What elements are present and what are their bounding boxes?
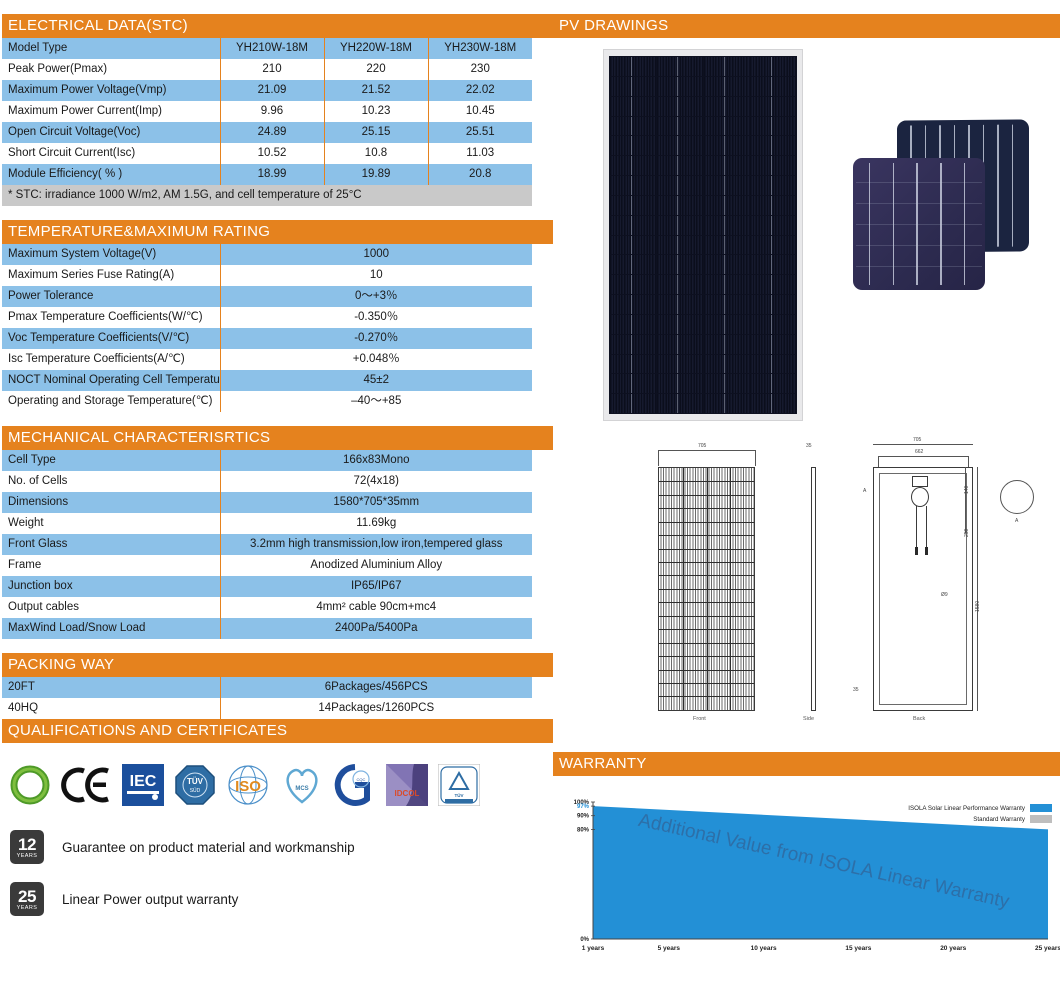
row-label: Module Efficiency( % ) xyxy=(2,164,220,185)
legend-swatch xyxy=(1030,804,1052,812)
row-label: Peak Power(Pmax) xyxy=(2,59,220,80)
row-label: Front Glass xyxy=(2,534,220,555)
row-value: 1000 xyxy=(220,244,532,265)
row-value: 9.96 xyxy=(220,101,324,122)
row-label: 40HQ xyxy=(2,698,220,719)
front-view-drawing xyxy=(658,467,755,711)
table-footnote: * STC: irradiance 1000 W/m2, AM 1.5G, an… xyxy=(2,185,532,206)
green-ring-icon xyxy=(10,763,50,807)
table-row: Maximum Series Fuse Rating(A) 10 xyxy=(2,265,532,286)
row-value: 210 xyxy=(220,59,324,80)
table-row: 20FT 6Packages/456PCS xyxy=(2,677,532,698)
warranty-badge-row-12: 12 YEARS Guarantee on product material a… xyxy=(2,821,553,873)
table-row: Isc Temperature Coefficients(A/℃) +0.048… xyxy=(2,349,532,370)
iso-icon: ISO xyxy=(226,763,270,807)
qualifications-header: QUALIFICATIONS AND CERTIFICATES xyxy=(2,719,553,743)
junction-box-drawing xyxy=(912,476,928,487)
svg-text:IDCOL: IDCOL xyxy=(395,789,420,798)
badge-number: 12 xyxy=(18,836,36,853)
table-row: Front Glass 3.2mm high transmission,low … xyxy=(2,534,532,555)
row-value: –40～+85 xyxy=(220,391,532,412)
table-row: Maximum Power Current(Imp) 9.96 10.23 10… xyxy=(2,101,532,122)
pv-photo-area xyxy=(553,38,1060,438)
row-value: 20.8 xyxy=(428,164,532,185)
row-label: Maximum System Voltage(V) xyxy=(2,244,220,265)
row-label: Voc Temperature Coefficients(V/℃) xyxy=(2,328,220,349)
table-row: Module Efficiency( % ) 18.99 19.89 20.8 xyxy=(2,164,532,185)
warranty-text: Linear Power output warranty xyxy=(62,892,238,907)
datasheet-page: ELECTRICAL DATA(STC) Model Type YH210W-1… xyxy=(0,0,1060,999)
technical-drawing: 705 Front 35 Side 705 xyxy=(553,442,1060,752)
warranty-badge-row-25: 25 YEARS Linear Power output warranty xyxy=(2,873,553,925)
table-row: Frame Anodized Aluminium Alloy xyxy=(2,555,532,576)
dim-side-thickness: 35 xyxy=(806,443,812,449)
spacer xyxy=(2,412,553,426)
legend-label: ISOLA Solar Linear Performance Warranty xyxy=(908,805,1025,812)
row-label: Maximum Series Fuse Rating(A) xyxy=(2,265,220,286)
table-row: Power Tolerance 0～+3％ xyxy=(2,286,532,307)
row-label: No. of Cells xyxy=(2,471,220,492)
table-row: Voc Temperature Coefficients(V/℃) -0.270… xyxy=(2,328,532,349)
row-label: Short Circuit Current(Isc) xyxy=(2,143,220,164)
temperature-rating-header: TEMPERATURE&MAXIMUM RATING xyxy=(2,220,553,244)
cqc-icon: CQC xyxy=(334,763,376,807)
iec-icon: IEC xyxy=(122,763,164,807)
row-label: Weight xyxy=(2,513,220,534)
row-label: 20FT xyxy=(2,677,220,698)
svg-text:SÜD: SÜD xyxy=(190,787,201,794)
row-value: -0.350％ xyxy=(220,307,532,328)
back-view-drawing xyxy=(873,467,973,711)
column-header-model-1: YH210W-18M xyxy=(220,38,324,59)
row-value: +0.048％ xyxy=(220,349,532,370)
dim-back-width: 705 xyxy=(913,437,921,443)
svg-text:5 years: 5 years xyxy=(658,945,681,952)
tuv-icon: TÜV SÜD xyxy=(174,763,216,807)
table-row: No. of Cells 72(4x18) xyxy=(2,471,532,492)
table-row: Maximum System Voltage(V) 1000 xyxy=(2,244,532,265)
ce-icon xyxy=(60,763,112,807)
certificate-logos: IEC TÜV SÜD ISO xyxy=(2,743,532,821)
dim-front-width: 705 xyxy=(698,443,706,449)
warranty-header: WARRANTY xyxy=(553,752,1060,776)
row-value: 10.45 xyxy=(428,101,532,122)
column-header-model-3: YH230W-18M xyxy=(428,38,532,59)
row-value: 72(4x18) xyxy=(220,471,532,492)
table-row: Weight 11.69kg xyxy=(2,513,532,534)
badge-unit: YEARS xyxy=(17,854,38,860)
cable-drawing xyxy=(916,506,917,548)
packing-way-table: 20FT 6Packages/456PCS 40HQ 14Packages/12… xyxy=(2,677,532,719)
row-value: 25.51 xyxy=(428,122,532,143)
badge-12-years: 12 YEARS xyxy=(10,830,44,864)
row-value: 10 xyxy=(220,265,532,286)
dim-line-front-width xyxy=(658,450,755,451)
solar-panel-photo xyxy=(603,49,803,421)
dim-frame-bottom: 35 xyxy=(853,687,859,693)
svg-text:20 years: 20 years xyxy=(940,945,966,952)
row-label: Operating and Storage Temperature(℃) xyxy=(2,391,220,412)
row-value: 14Packages/1260PCS xyxy=(220,698,532,719)
electrical-data-table: Model Type YH210W-18M YH220W-18M YH230W-… xyxy=(2,38,532,206)
detail-mark-label: A xyxy=(1015,518,1018,524)
svg-text:TÜV: TÜV xyxy=(187,777,204,786)
legend-label: Standard Warranty xyxy=(973,816,1025,823)
badge-unit: YEARS xyxy=(17,906,38,912)
legend-item-standard: Standard Warranty xyxy=(908,815,1052,823)
mc4-connector xyxy=(915,547,918,555)
label-side-view: Side xyxy=(803,716,814,722)
row-value: 3.2mm high transmission,low iron,tempere… xyxy=(220,534,532,555)
left-column: ELECTRICAL DATA(STC) Model Type YH210W-1… xyxy=(0,0,553,999)
row-value: 10.8 xyxy=(324,143,428,164)
tuv-rheinland-icon: TÜV xyxy=(438,763,480,807)
row-label: Maximum Power Current(Imp) xyxy=(2,101,220,122)
legend-item-linear: ISOLA Solar Linear Performance Warranty xyxy=(908,804,1052,812)
mechanical-characteristics-table: Cell Type 166x83Mono No. of Cells 72(4x1… xyxy=(2,450,532,639)
row-label: Open Circuit Voltage(Voc) xyxy=(2,122,220,143)
spacer xyxy=(2,639,553,653)
row-value: 10.52 xyxy=(220,143,324,164)
svg-text:90%: 90% xyxy=(577,814,590,820)
row-label: Pmax Temperature Coefficients(W/℃) xyxy=(2,307,220,328)
row-label: Output cables xyxy=(2,597,220,618)
row-value: 6Packages/456PCS xyxy=(220,677,532,698)
row-label: Cell Type xyxy=(2,450,220,471)
temperature-rating-table: Maximum System Voltage(V) 1000 Maximum S… xyxy=(2,244,532,412)
dim-height: 1580 xyxy=(975,601,981,612)
table-row: Open Circuit Voltage(Voc) 24.89 25.15 25… xyxy=(2,122,532,143)
row-value: 220 xyxy=(324,59,428,80)
table-row: Operating and Storage Temperature(℃) –40… xyxy=(2,391,532,412)
row-label: Maximum Power Voltage(Vmp) xyxy=(2,80,220,101)
svg-text:25 years: 25 years xyxy=(1035,945,1060,952)
row-value: 10.23 xyxy=(324,101,428,122)
svg-text:MCS: MCS xyxy=(295,786,308,792)
row-value: Anodized Aluminium Alloy xyxy=(220,555,532,576)
table-row: Maximum Power Voltage(Vmp) 21.09 21.52 2… xyxy=(2,80,532,101)
row-value: 21.52 xyxy=(324,80,428,101)
row-value: IP65/IP67 xyxy=(220,576,532,597)
table-row: Output cables 4mm² cable 90cm+mc4 xyxy=(2,597,532,618)
row-value: 2400Pa/5400Pa xyxy=(220,618,532,639)
row-label: NOCT Nominal Operating Cell Temperature(… xyxy=(2,370,220,391)
label-front-view: Front xyxy=(693,716,706,722)
table-row: Junction box IP65/IP67 xyxy=(2,576,532,597)
badge-number: 25 xyxy=(18,888,36,905)
svg-text:15 years: 15 years xyxy=(845,945,871,952)
row-label: MaxWind Load/Snow Load xyxy=(2,618,220,639)
mechanical-characteristics-header: MECHANICAL CHARACTERISRTICS xyxy=(2,426,553,450)
wafer-front xyxy=(853,158,985,290)
svg-text:80%: 80% xyxy=(577,827,590,833)
svg-text:IEC: IEC xyxy=(130,773,157,790)
row-value: 18.99 xyxy=(220,164,324,185)
svg-text:CQC: CQC xyxy=(357,777,366,782)
table-row: Dimensions 1580*705*35mm xyxy=(2,492,532,513)
detail-view-circle xyxy=(1000,480,1034,514)
dim-mount-spacing: 250 xyxy=(964,529,970,537)
solar-cell-wafers xyxy=(853,120,1043,310)
column-header-model-2: YH220W-18M xyxy=(324,38,428,59)
row-label: Power Tolerance xyxy=(2,286,220,307)
idcol-icon: IDCOL xyxy=(386,763,428,807)
badge-25-years: 25 YEARS xyxy=(10,882,44,916)
warranty-chart: 100%97%90%80%0% 1 years5 years10 years15… xyxy=(553,782,1060,972)
right-column: PV DRAWINGS xyxy=(553,0,1060,999)
row-value: 19.89 xyxy=(324,164,428,185)
electrical-data-header: ELECTRICAL DATA(STC) xyxy=(2,14,553,38)
table-row: 40HQ 14Packages/1260PCS xyxy=(2,698,532,719)
svg-text:97%: 97% xyxy=(577,804,590,810)
row-value: 0～+3％ xyxy=(220,286,532,307)
row-value: -0.270％ xyxy=(220,328,532,349)
svg-text:0%: 0% xyxy=(580,937,589,943)
row-label: Junction box xyxy=(2,576,220,597)
row-value: 24.89 xyxy=(220,122,324,143)
row-value: 45±2 xyxy=(220,370,532,391)
pv-drawings-header: PV DRAWINGS xyxy=(553,14,1060,38)
cable-drawing xyxy=(926,506,927,548)
side-view-drawing xyxy=(811,467,816,711)
warranty-text: Guarantee on product material and workma… xyxy=(62,840,355,855)
row-value: 11.69kg xyxy=(220,513,532,534)
table-row: Short Circuit Current(Isc) 10.52 10.8 11… xyxy=(2,143,532,164)
row-value: 4mm² cable 90cm+mc4 xyxy=(220,597,532,618)
table-row: Pmax Temperature Coefficients(W/℃) -0.35… xyxy=(2,307,532,328)
svg-text:1 years: 1 years xyxy=(582,945,605,952)
svg-text:ISO: ISO xyxy=(235,778,261,795)
row-value: 25.15 xyxy=(324,122,428,143)
row-value: 22.02 xyxy=(428,80,532,101)
panel-cell-grid xyxy=(609,56,797,414)
row-value: 166x83Mono xyxy=(220,450,532,471)
dim-back-inner-width: 662 xyxy=(915,449,923,455)
dim-mount-detail: Ø9 xyxy=(941,592,948,598)
column-header-model: Model Type xyxy=(2,38,220,59)
mcs-icon: MCS xyxy=(280,763,324,807)
row-label: Dimensions xyxy=(2,492,220,513)
legend-swatch xyxy=(1030,815,1052,823)
row-label: Isc Temperature Coefficients(A/℃) xyxy=(2,349,220,370)
chart-legend: ISOLA Solar Linear Performance Warranty … xyxy=(908,804,1052,826)
svg-text:10 years: 10 years xyxy=(751,945,777,952)
packing-way-header: PACKING WAY xyxy=(2,653,553,677)
table-row-header: Model Type YH210W-18M YH220W-18M YH230W-… xyxy=(2,38,532,59)
row-value: 21.09 xyxy=(220,80,324,101)
svg-text:TÜV: TÜV xyxy=(455,792,464,798)
detail-mark-label: A xyxy=(863,488,866,494)
row-value: 1580*705*35mm xyxy=(220,492,532,513)
row-label: Frame xyxy=(2,555,220,576)
row-value: 230 xyxy=(428,59,532,80)
table-row: Cell Type 166x83Mono xyxy=(2,450,532,471)
spacer xyxy=(2,206,553,220)
label-back-view: Back xyxy=(913,716,925,722)
row-value: 11.03 xyxy=(428,143,532,164)
stc-footnote: * STC: irradiance 1000 W/m2, AM 1.5G, an… xyxy=(2,185,532,206)
mc4-connector xyxy=(925,547,928,555)
table-row: Peak Power(Pmax) 210 220 230 xyxy=(2,59,532,80)
table-row: MaxWind Load/Snow Load 2400Pa/5400Pa xyxy=(2,618,532,639)
table-row: NOCT Nominal Operating Cell Temperature(… xyxy=(2,370,532,391)
